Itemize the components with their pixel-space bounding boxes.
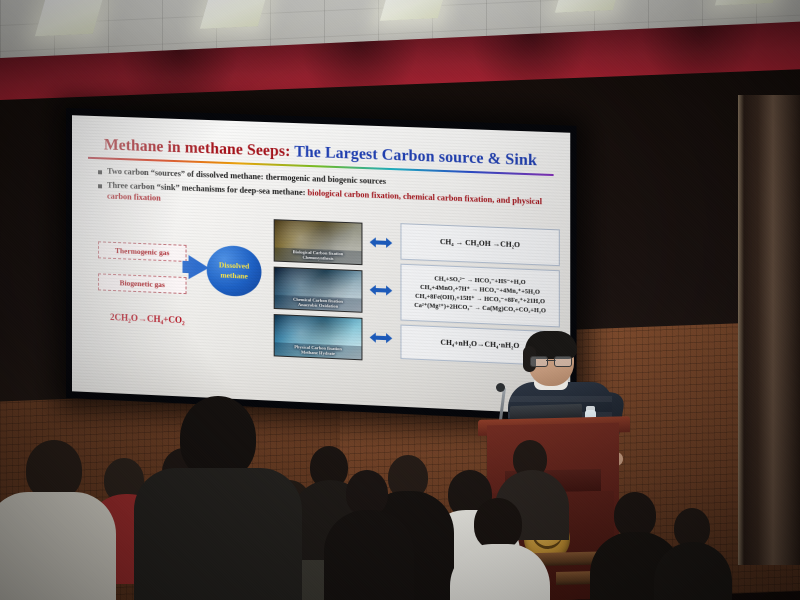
thumbnail-biological: Biological Carbon fixation Chemosynthesi…: [274, 219, 363, 265]
ceiling-light: [35, 0, 103, 36]
glasses-lens-right: [554, 356, 572, 367]
audience-shoulders: [0, 492, 116, 600]
double-arrow-icon: [370, 284, 393, 296]
arrow-head-right: [386, 285, 392, 295]
equation-box-biological: CH₄ → CH₃OH →CH₂O: [400, 223, 559, 266]
sweater-stripe: [508, 396, 612, 402]
audience-head: [474, 498, 522, 550]
audience-shoulders: [134, 468, 302, 600]
glasses-icon: [530, 356, 572, 365]
projection-screen-frame: Methane in methane Seeps: The Largest Ca…: [66, 108, 577, 422]
equation-line: CH₄ → CH₃OH →CH₂O: [440, 237, 520, 251]
hub-label-line2: methane: [220, 270, 247, 280]
thumbnail-chemical: Chemical Carbon fixation Anaerobic Oxida…: [274, 266, 363, 312]
slide-body: Thermogenic gas Biogenetic gas Dissolved…: [82, 206, 560, 378]
thumbnail-caption: Physical Carbon fixation Methane Hydrate: [275, 342, 362, 359]
bullet-square-icon: [98, 184, 102, 188]
equation-box-chemical: CH₄+SO₄²⁻ → HCO₃⁻+HS⁻+H₂O CH₄+4MnO₂+7H⁺ …: [400, 263, 559, 327]
ceiling-light: [200, 0, 268, 29]
thermogenic-gas-box: Thermogenic gas: [98, 241, 187, 262]
double-arrow-icon: [370, 332, 393, 344]
dissolved-methane-hub: Dissolved methane: [207, 244, 262, 297]
equation-line: CH₄+nH₂O→CH₄·nH₂O: [441, 338, 520, 352]
arrow-head-right: [386, 237, 392, 247]
thumbnail-caption: Chemical Carbon fixation Anaerobic Oxida…: [275, 295, 362, 312]
microphone-icon: [496, 383, 505, 392]
presentation-slide: Methane in methane Seeps: The Largest Ca…: [72, 115, 570, 414]
glasses-lens-left: [530, 356, 548, 367]
ceiling-light: [380, 0, 448, 21]
thumbnail-physical: Physical Carbon fixation Methane Hydrate: [274, 314, 363, 360]
arrow-head-right: [386, 333, 392, 343]
audience-head: [26, 440, 82, 500]
slide-title-red: Methane in methane Seeps:: [104, 136, 291, 160]
audience-shoulders: [324, 510, 414, 600]
thumbnail-caption: Biological Carbon fixation Chemosynthesi…: [275, 247, 362, 264]
double-arrow-icon: [370, 237, 393, 249]
lecture-hall-photo: Methane in methane Seeps: The Largest Ca…: [0, 0, 800, 600]
wall-pillar: [740, 95, 800, 565]
pillar-edge: [738, 95, 744, 565]
projection-screen: Methane in methane Seeps: The Largest Ca…: [72, 115, 570, 414]
source-arrow-icon: [189, 255, 209, 280]
biogenetic-gas-box: Biogenetic gas: [98, 273, 187, 294]
biogenic-equation: 2CH₂O→CH₄+CO₂: [110, 312, 185, 325]
bullet-square-icon: [98, 170, 102, 174]
